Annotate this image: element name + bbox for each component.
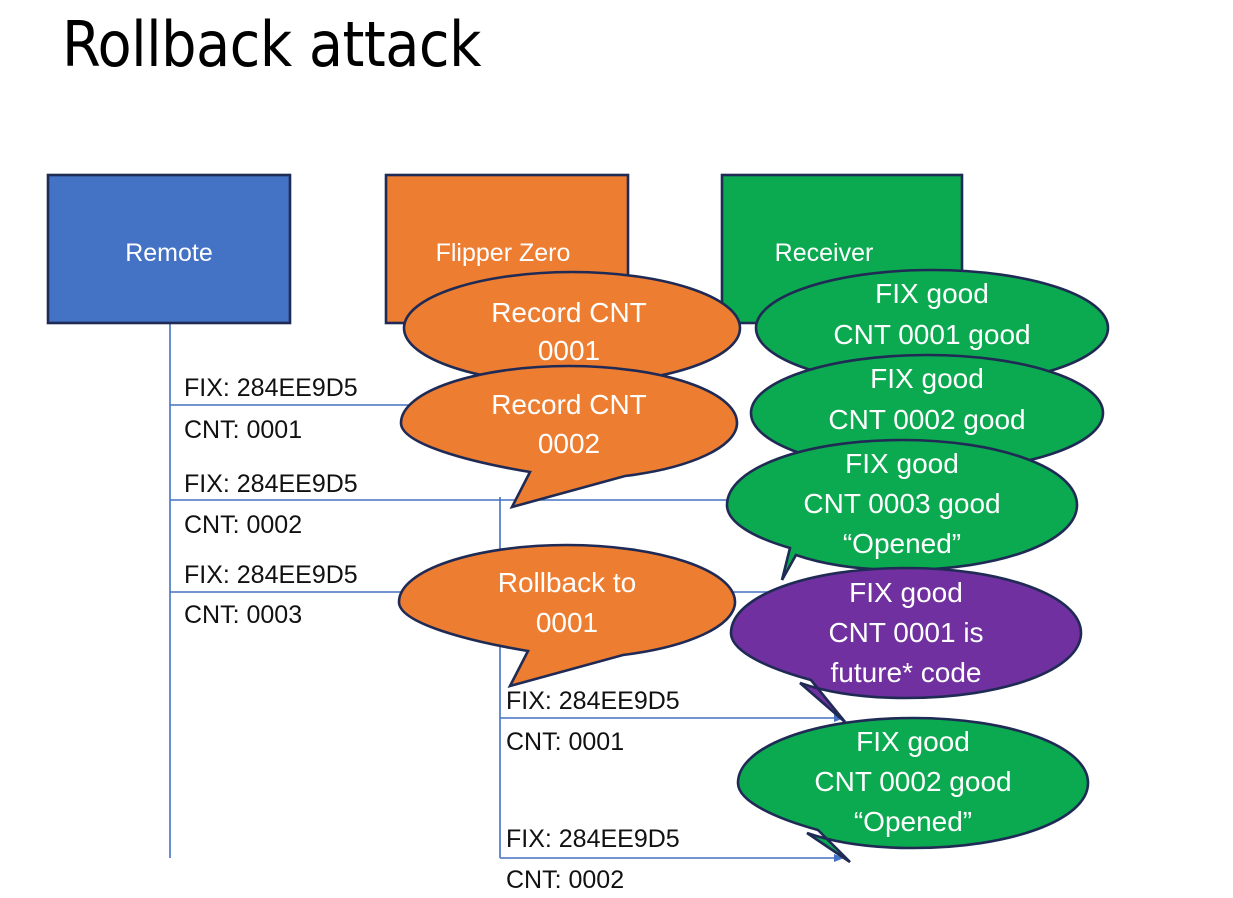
message-label-1: FIX: 284EE9D5 CNT: 0001 bbox=[184, 374, 358, 444]
actor-label-flipper: Flipper Zero bbox=[436, 239, 571, 267]
bubble-line-2: CNT 0001 good bbox=[833, 319, 1030, 350]
message-fix-5: FIX: 284EE9D5 bbox=[506, 825, 680, 853]
actor-label-receiver: Receiver bbox=[775, 239, 874, 267]
bubble-line-2: CNT 0002 good bbox=[828, 404, 1025, 435]
bubble-line-2: 0001 bbox=[536, 607, 598, 638]
bubble-line-1: FIX good bbox=[870, 363, 984, 394]
bubble-line-2: 0001 bbox=[538, 335, 600, 366]
bubble-line-2: 0002 bbox=[538, 428, 600, 459]
message-label-4: FIX: 284EE9D5 CNT: 0001 bbox=[506, 687, 680, 756]
actor-box-remote[interactable]: Remote bbox=[48, 175, 290, 323]
bubble-line-2: CNT 0002 good bbox=[814, 766, 1011, 797]
message-label-2: FIX: 284EE9D5 CNT: 0002 bbox=[184, 470, 358, 539]
slide-canvas: Rollback attack Remote Flipper Zero R bbox=[0, 0, 1233, 898]
bubble-line-2: CNT 0003 good bbox=[803, 488, 1000, 519]
message-fix-2: FIX: 284EE9D5 bbox=[184, 470, 358, 498]
bubble-line-2: CNT 0001 is bbox=[828, 617, 983, 648]
bubble-line-1: Record CNT bbox=[491, 297, 647, 328]
bubble-line-1: Record CNT bbox=[491, 389, 647, 420]
message-cnt-2: CNT: 0002 bbox=[184, 511, 302, 539]
message-cnt-4: CNT: 0001 bbox=[506, 728, 624, 756]
message-label-5: FIX: 284EE9D5 CNT: 0002 bbox=[506, 825, 680, 894]
message-label-3: FIX: 284EE9D5 CNT: 0003 bbox=[184, 561, 358, 629]
actor-label-remote: Remote bbox=[125, 239, 213, 267]
message-cnt-3: CNT: 0003 bbox=[184, 601, 302, 629]
rollback-attack-sequence-diagram: Remote Flipper Zero Receiver Record CNT … bbox=[0, 0, 1233, 898]
message-cnt-1: CNT: 0001 bbox=[184, 416, 302, 444]
bubble-line-1: FIX good bbox=[875, 278, 989, 309]
receiver-bubble-future-code-warning[interactable]: FIX good CNT 0001 is future* code bbox=[731, 568, 1081, 722]
bubble-line-3: future* code bbox=[831, 657, 982, 688]
flipper-bubble-record-0002[interactable]: Record CNT 0002 bbox=[401, 366, 737, 507]
flipper-bubble-rollback-0001[interactable]: Rollback to 0001 bbox=[399, 545, 735, 686]
message-fix-3: FIX: 284EE9D5 bbox=[184, 561, 358, 589]
message-fix-4: FIX: 284EE9D5 bbox=[506, 687, 680, 715]
message-cnt-5: CNT: 0002 bbox=[506, 866, 624, 894]
bubble-line-3: “Opened” bbox=[854, 806, 972, 837]
bubble-line-1: Rollback to bbox=[498, 567, 637, 598]
bubble-line-3: “Opened” bbox=[843, 528, 961, 559]
bubble-line-1: FIX good bbox=[845, 448, 959, 479]
receiver-bubble-cnt-0002-opened[interactable]: FIX good CNT 0002 good “Opened” bbox=[738, 718, 1088, 862]
bubble-line-1: FIX good bbox=[856, 726, 970, 757]
message-fix-1: FIX: 284EE9D5 bbox=[184, 374, 358, 402]
receiver-bubble-cnt-0003-opened[interactable]: FIX good CNT 0003 good “Opened” bbox=[727, 440, 1077, 580]
bubble-line-1: FIX good bbox=[849, 577, 963, 608]
